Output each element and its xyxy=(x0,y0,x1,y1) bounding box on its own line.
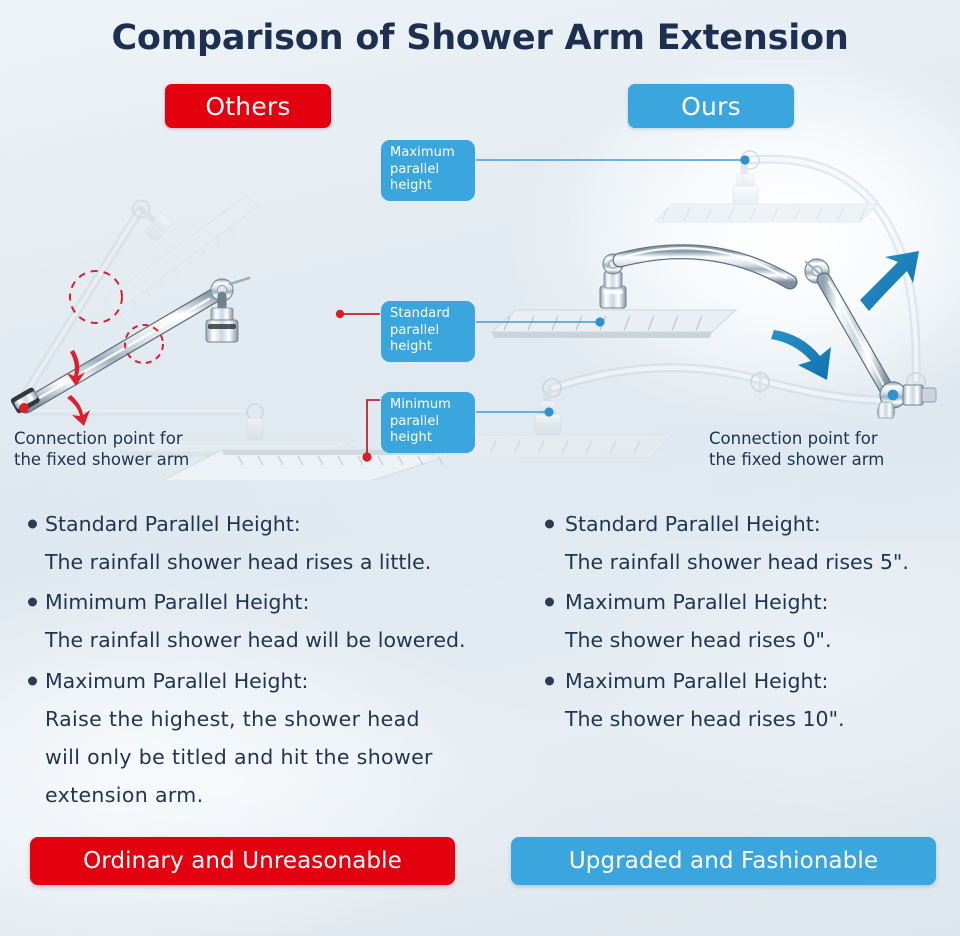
bullet-heading-text: Standard Parallel Height: xyxy=(565,512,821,536)
list-item: Mimimum Parallel Height: The rainfall sh… xyxy=(22,583,522,659)
bullet-body-line: will only be titled and hit the shower xyxy=(22,738,522,776)
bullet-heading: Mimimum Parallel Height: xyxy=(22,583,522,621)
verdict-banner-ours: Upgraded and Fashionable xyxy=(511,837,936,885)
bullet-dot-icon xyxy=(545,598,554,607)
connection-point-label-right: Connection point for the fixed shower ar… xyxy=(709,428,919,470)
bullet-heading-text: Mimimum Parallel Height: xyxy=(45,590,309,614)
bullet-heading-text: Standard Parallel Height: xyxy=(45,512,301,536)
bullet-heading-text: Maximum Parallel Height: xyxy=(565,590,828,614)
ours-main-arm xyxy=(492,248,936,418)
connection-dot-left xyxy=(19,403,29,413)
list-item: Standard Parallel Height: The rainfall s… xyxy=(22,505,522,581)
bullet-dot-icon xyxy=(545,520,554,529)
bullet-body-line: The shower head rises 10". xyxy=(537,700,957,738)
bullet-heading: Maximum Parallel Height: xyxy=(22,662,522,700)
ours-ghost-maximum xyxy=(654,151,925,391)
bullet-body-line: The rainfall shower head rises a little. xyxy=(22,543,522,581)
bullet-heading-text: Maximum Parallel Height: xyxy=(565,669,828,693)
bullet-heading: Standard Parallel Height: xyxy=(537,505,957,543)
product-illustrations xyxy=(0,0,960,480)
others-feature-list: Standard Parallel Height: The rainfall s… xyxy=(22,505,522,816)
verdict-banner-others: Ordinary and Unreasonable xyxy=(30,837,455,885)
callout-minimum-line2: parallel height xyxy=(390,414,466,447)
connection-point-label-left: Connection point for the fixed shower ar… xyxy=(14,428,224,470)
callout-maximum-line1: Maximum xyxy=(390,145,466,162)
bullet-body-line: The shower head rises 0". xyxy=(537,621,957,659)
callout-minimum-parallel-height: Minimum parallel height xyxy=(381,392,475,453)
callout-maximum-parallel-height: Maximum parallel height xyxy=(381,140,475,201)
rotation-arrow-blue-down xyxy=(771,330,831,380)
bullet-body-line: The rainfall shower head will be lowered… xyxy=(22,621,522,659)
bullet-dot-icon xyxy=(545,676,554,685)
list-item: Maximum Parallel Height: The shower head… xyxy=(537,583,957,659)
callout-maximum-line2: parallel height xyxy=(390,162,466,195)
bullet-dot-icon xyxy=(28,676,37,685)
infographic-page: Comparison of Shower Arm Extension Other… xyxy=(0,0,960,936)
bullet-heading: Maximum Parallel Height: xyxy=(537,662,957,700)
bullet-heading: Maximum Parallel Height: xyxy=(537,583,957,621)
bullet-dot-icon xyxy=(28,598,37,607)
connection-right-line1: Connection point for xyxy=(709,428,919,449)
bullet-heading: Standard Parallel Height: xyxy=(22,505,522,543)
ours-feature-list: Standard Parallel Height: The rainfall s… xyxy=(537,505,957,740)
callout-standard-line2: parallel height xyxy=(390,323,466,356)
callout-minimum-line1: Minimum xyxy=(390,397,466,414)
bullet-body-line: extension arm. xyxy=(22,776,522,814)
connection-right-line2: the fixed shower arm xyxy=(709,449,919,470)
list-item: Maximum Parallel Height: Raise the highe… xyxy=(22,662,522,815)
callout-standard-line1: Standard xyxy=(390,306,466,323)
bullet-body-line: The rainfall shower head rises 5". xyxy=(537,543,957,581)
bullet-body-line: Raise the highest, the shower head xyxy=(22,700,522,738)
callout-standard-parallel-height: Standard parallel height xyxy=(381,301,475,362)
connection-left-line2: the fixed shower arm xyxy=(14,449,224,470)
list-item: Maximum Parallel Height: The shower head… xyxy=(537,662,957,738)
list-item: Standard Parallel Height: The rainfall s… xyxy=(537,505,957,581)
connection-left-line1: Connection point for xyxy=(14,428,224,449)
bullet-dot-icon xyxy=(28,520,37,529)
bullet-heading-text: Maximum Parallel Height: xyxy=(45,669,308,693)
